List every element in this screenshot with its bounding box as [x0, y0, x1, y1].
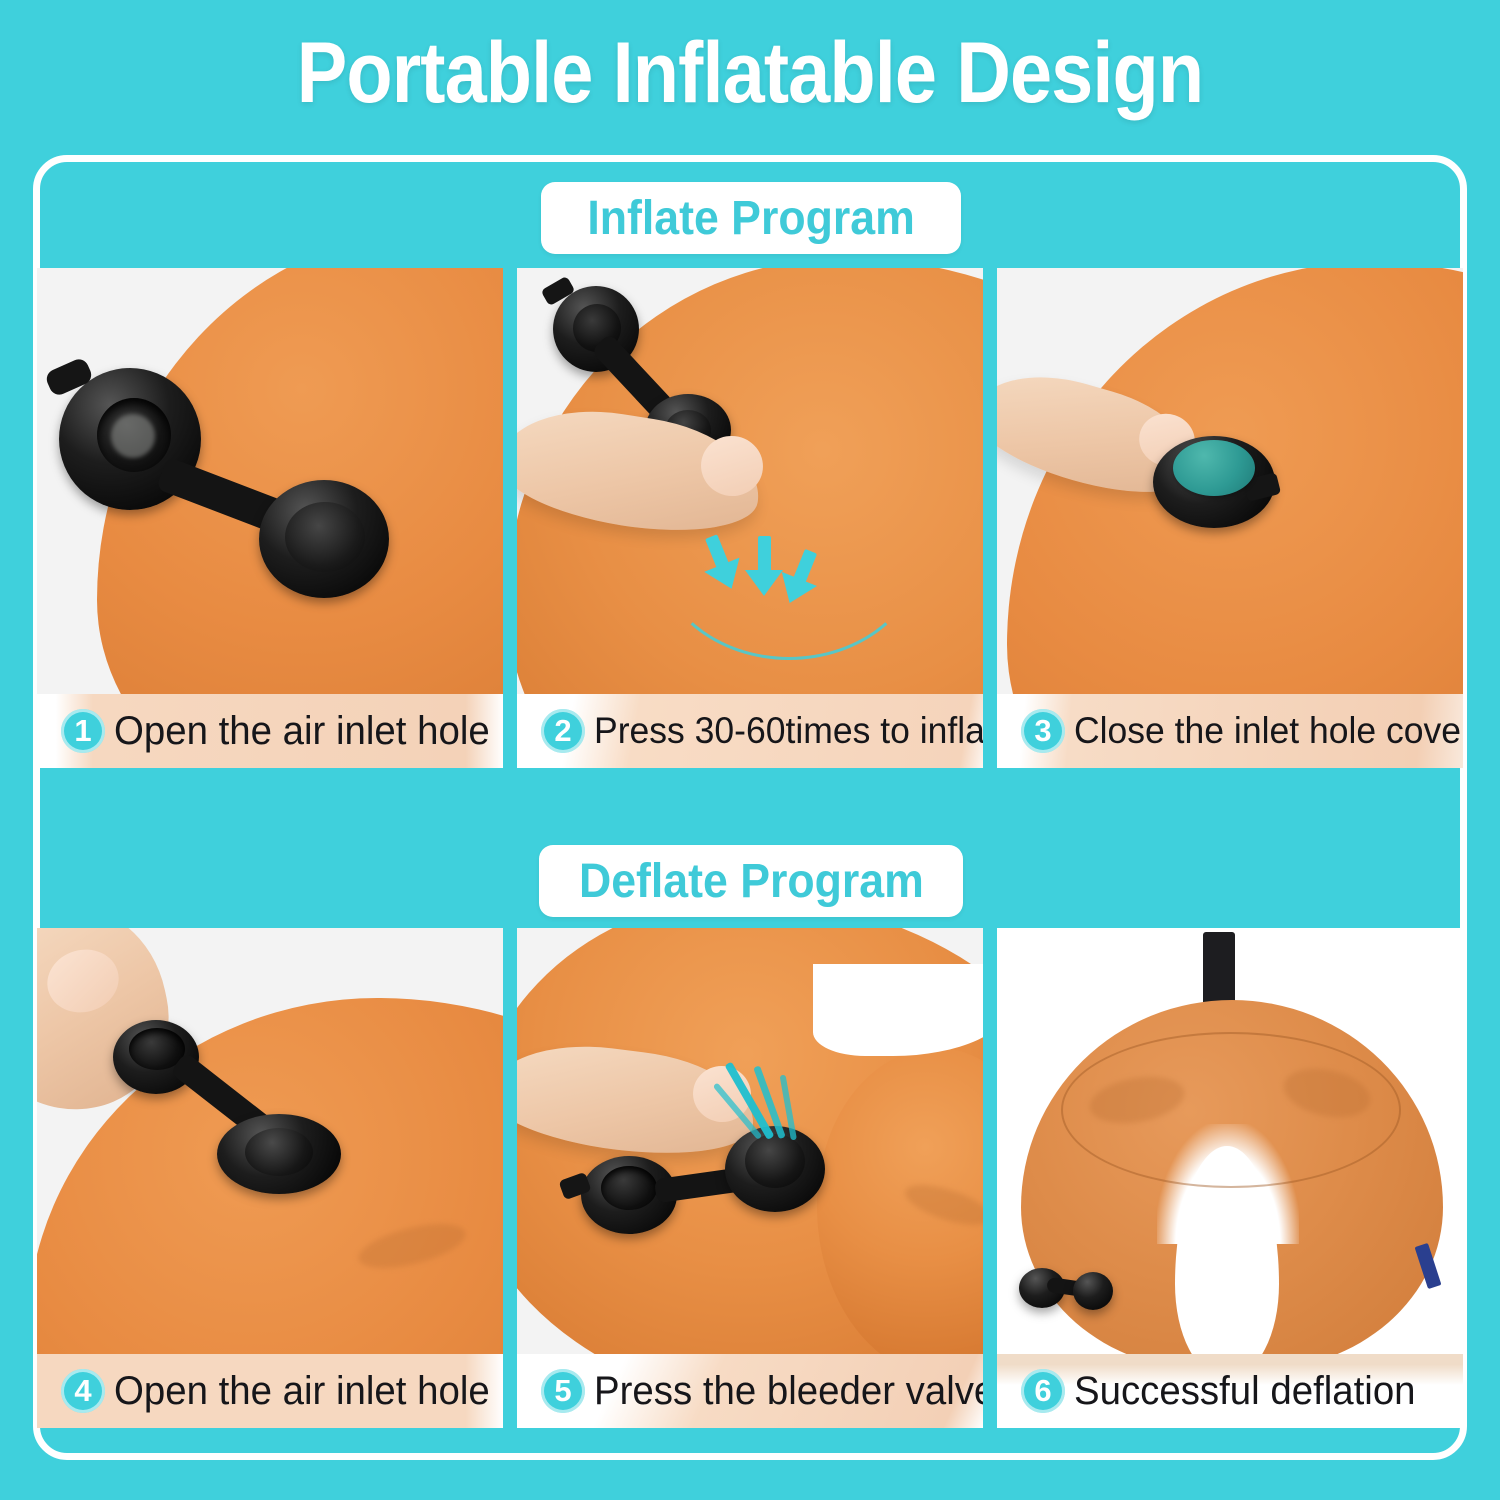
step-number-badge: 3: [1021, 709, 1065, 753]
step-photo-4: [37, 928, 503, 1354]
step-number-badge: 1: [61, 709, 105, 753]
step-photo-2: [517, 268, 983, 694]
step-caption-text: Successful deflation: [1074, 1369, 1416, 1414]
step-caption-text: Press the bleeder valve: [594, 1369, 983, 1414]
step-caption-text: Open the air inlet hole: [114, 709, 490, 754]
pillow-notch: [813, 964, 983, 1056]
step-caption-4: 4 Open the air inlet hole: [37, 1354, 503, 1428]
page-title: Portable Inflatable Design: [90, 24, 1410, 123]
valve-ring-seated: [1073, 1272, 1113, 1310]
step-panel-3: 3 Close the inlet hole cover: [997, 268, 1463, 768]
section-heading-deflate: Deflate Program: [539, 845, 963, 917]
step-number-badge: 2: [541, 709, 585, 753]
step-caption-text: Open the air inlet hole: [114, 1369, 490, 1414]
section-heading-deflate-label: Deflate Program: [579, 854, 924, 909]
step-panel-6: 6 Successful deflation: [997, 928, 1463, 1428]
bleeder-valve-center: [745, 1134, 805, 1188]
valve-cap-cavity: [601, 1166, 657, 1210]
step-photo-5: [517, 928, 983, 1354]
step-photo-6: [997, 928, 1463, 1354]
step-caption-3: 3 Close the inlet hole cover: [997, 694, 1463, 768]
press-zone-arc: [655, 438, 923, 660]
section-heading-inflate-label: Inflate Program: [587, 191, 914, 246]
step-panel-4: 4 Open the air inlet hole: [37, 928, 503, 1428]
valve-cap-teal: [1173, 440, 1255, 496]
step-caption-5: 5 Press the bleeder valve: [517, 1354, 983, 1428]
step-caption-1: 1 Open the air inlet hole: [37, 694, 503, 768]
infographic-page: Portable Inflatable Design Inflate Progr…: [0, 0, 1500, 1500]
step-number-badge: 6: [1021, 1369, 1065, 1413]
step-caption-text: Close the inlet hole cover: [1074, 710, 1463, 752]
step-caption-2: 2 Press 30-60times to inflate: [517, 694, 983, 768]
step-panel-1: 1 Open the air inlet hole: [37, 268, 503, 768]
valve-ring-center: [285, 502, 365, 572]
section-heading-inflate: Inflate Program: [541, 182, 961, 254]
step-photo-3: [997, 268, 1463, 694]
step-panel-2: 2 Press 30-60times to inflate: [517, 268, 983, 768]
step-number-badge: 4: [61, 1369, 105, 1413]
step-caption-6: 6 Successful deflation: [997, 1354, 1463, 1428]
step-photo-1: [37, 268, 503, 694]
step-caption-text: Press 30-60times to inflate: [594, 710, 983, 752]
valve-ring-center: [245, 1128, 313, 1176]
valve-cap-inner-highlight: [111, 414, 155, 458]
step-panel-5: 5 Press the bleeder valve: [517, 928, 983, 1428]
step-number-badge: 5: [541, 1369, 585, 1413]
